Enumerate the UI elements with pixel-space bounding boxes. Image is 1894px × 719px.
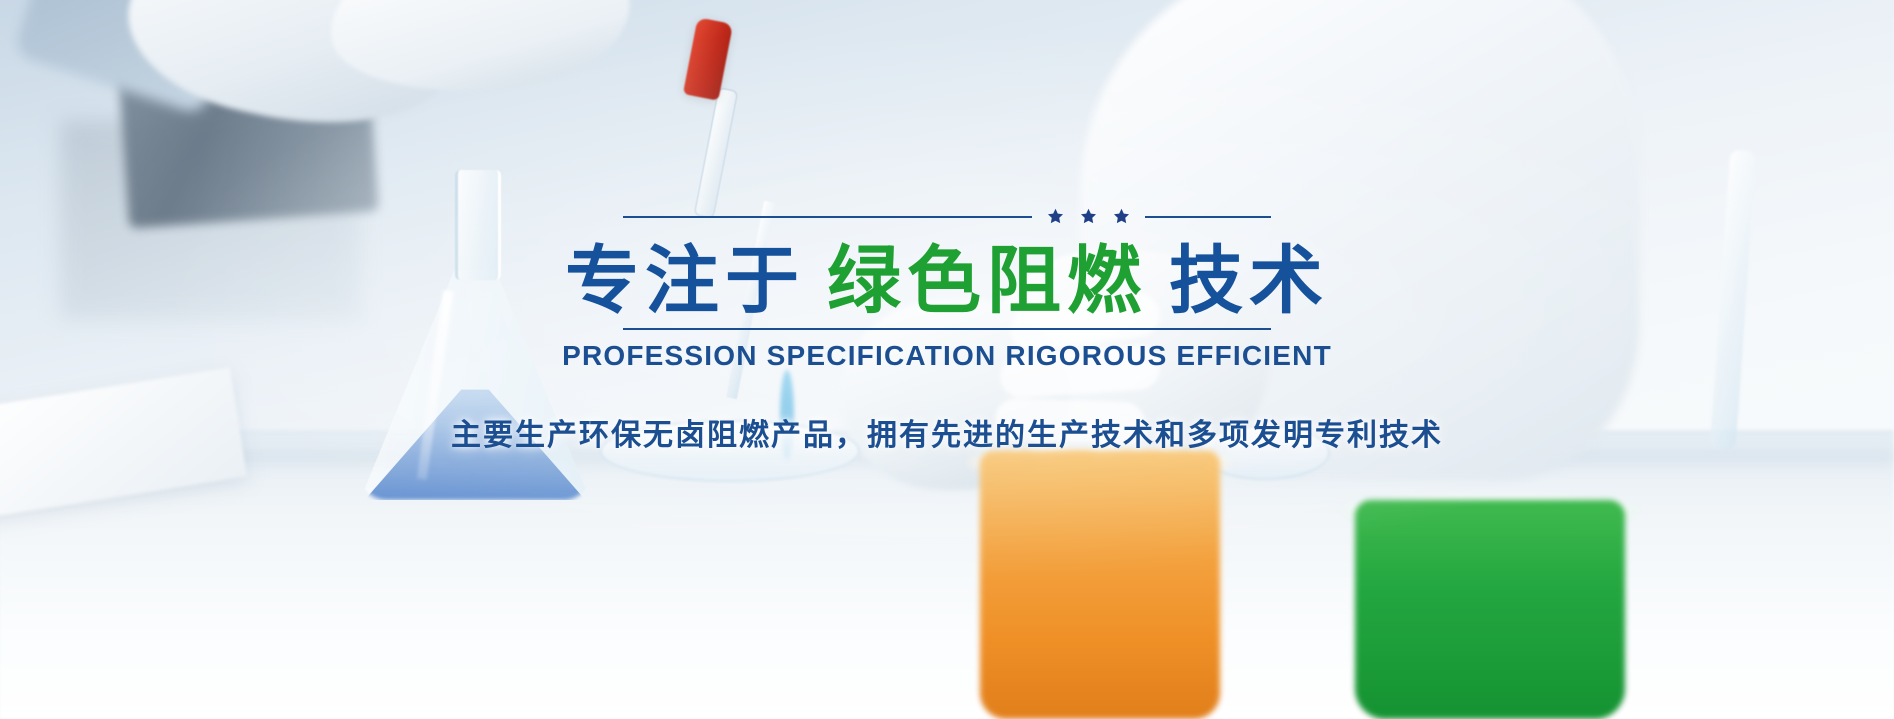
subtitle-chinese: 主要生产环保无卤阻燃产品，拥有先进的生产技术和多项发明专利技术 — [451, 358, 1443, 454]
hero-banner: 专注于绿色阻燃技术 PROFESSION SPECIFICATION RIGOR… — [0, 0, 1894, 719]
headline: 专注于绿色阻燃技术 — [565, 196, 1329, 329]
headline-part-2: 绿色阻燃 — [827, 238, 1147, 324]
rule-bottom — [623, 328, 1271, 330]
headline-part-3: 技术 — [1169, 238, 1329, 324]
banner-content: 专注于绿色阻燃技术 PROFESSION SPECIFICATION RIGOR… — [0, 0, 1894, 719]
headline-part-1: 专注于 — [565, 238, 805, 324]
